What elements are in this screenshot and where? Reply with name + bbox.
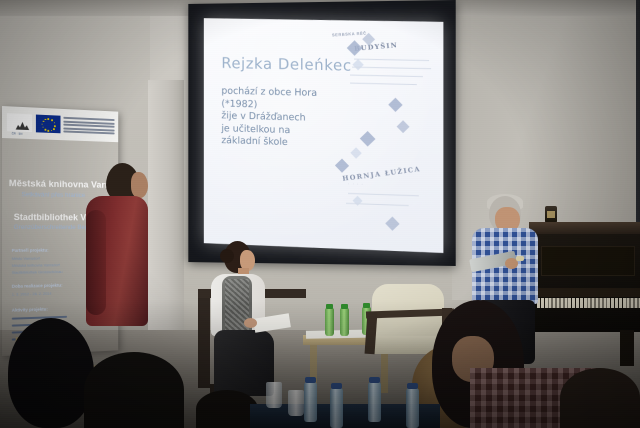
blue-bottle	[406, 388, 419, 428]
piano-ornament	[545, 206, 557, 223]
projected-slide: Rejzka Deleńkec pochází z obce Hora (*19…	[204, 18, 444, 253]
audience-foreground-center	[196, 390, 258, 428]
green-bottle-cap	[363, 303, 370, 308]
blue-bottle	[304, 382, 317, 422]
blue-bottle-cap	[369, 377, 380, 383]
audience-foreground-left-2	[84, 352, 184, 428]
drinking-glass	[266, 382, 282, 408]
blue-bottle-cap	[407, 383, 418, 389]
banner-section-line: Stadtbibliothek Grossschönau	[12, 269, 63, 275]
banner-section-line: 1. 3. 2012 - 28. 2. 2014	[12, 291, 52, 297]
blue-bottle-cap	[305, 377, 316, 383]
crest-logo: ČR · SN	[7, 113, 32, 132]
person-legs	[214, 330, 274, 396]
green-bottle	[325, 308, 334, 336]
piano-keys	[537, 298, 640, 308]
blue-bottle	[330, 388, 343, 428]
crest-icon	[16, 122, 30, 130]
banner-section-label: Aktivity projektu:	[12, 307, 48, 313]
photo-scene: Rejzka Deleńkec pochází z obce Hora (*19…	[0, 0, 640, 428]
banner-section-line: Město Varnsdorf	[12, 256, 40, 261]
blue-bottle-cap	[331, 383, 342, 389]
green-bottle-cap	[341, 304, 348, 309]
banner-subheading-cz: Setkávání přes hranice	[21, 191, 85, 199]
person-face	[131, 172, 148, 198]
crest-caption: ČR · SN	[12, 132, 23, 135]
banner-header: ČR · SN	[2, 106, 118, 142]
audience-foreground-far-right	[560, 368, 640, 428]
slide-title: Rejzka Deleńkec	[221, 54, 351, 75]
slide-body: pochází z obce Hora (*1982) žije v Drážď…	[221, 86, 360, 152]
audience-foreground-left	[8, 318, 94, 428]
eu-flag-logo	[36, 115, 61, 134]
drinking-glass	[288, 390, 304, 416]
slide-decor-dots: · · · ·	[348, 181, 364, 187]
green-bottle-cap	[326, 304, 333, 309]
green-bottle	[340, 308, 349, 336]
banner-section-label: Doba realizace projektu:	[12, 283, 63, 289]
banner-section-label: Partneři projektu:	[12, 248, 49, 253]
person-arm	[86, 210, 106, 315]
projection-screen: Rejzka Deleńkec pochází z obce Hora (*19…	[188, 0, 455, 266]
banner-section-line: Městská knihovna Varnsdorf	[12, 262, 60, 268]
person-hair-bun	[220, 249, 234, 263]
blue-bottle	[368, 382, 381, 422]
person-hand	[244, 318, 257, 328]
eu-caption	[63, 117, 114, 137]
wristwatch	[516, 256, 524, 261]
